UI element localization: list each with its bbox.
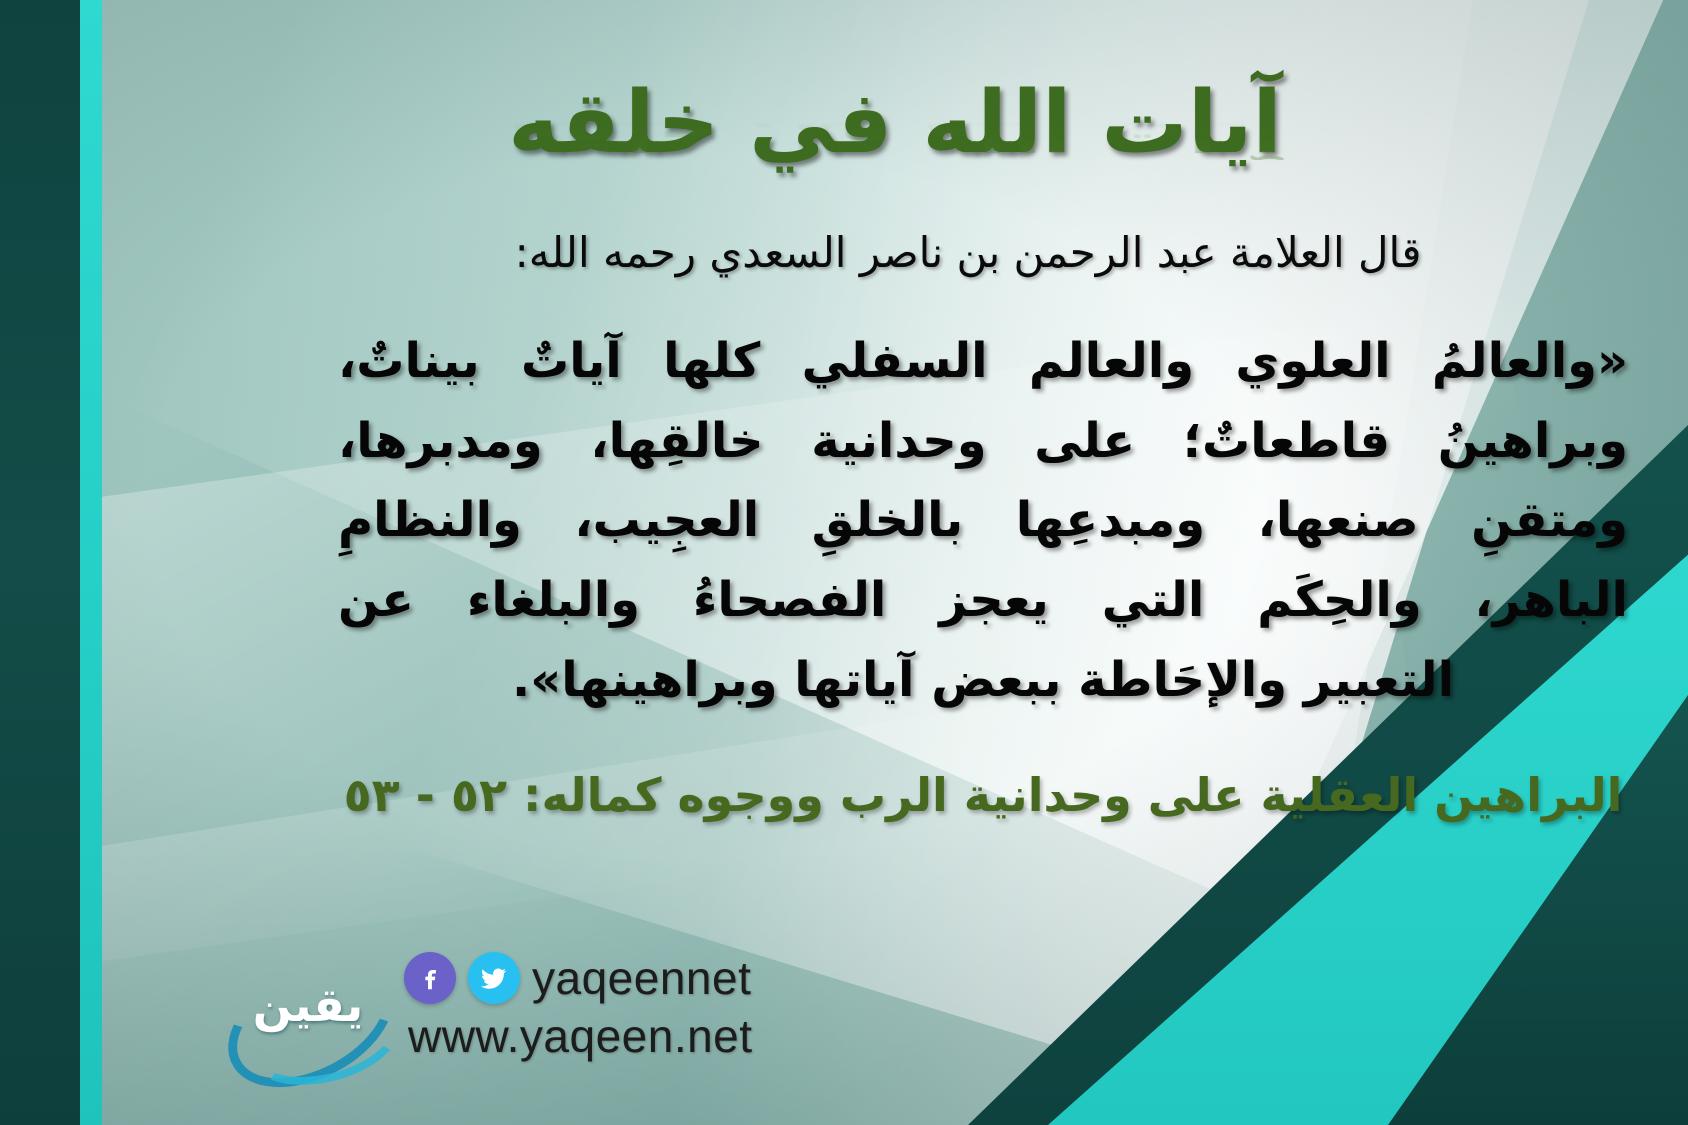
social-block: yaqeennet www.yaqeen.net (404, 951, 753, 1063)
quote-line: «والعالمُ العلوي والعالم السفلي كلها آيا… (338, 322, 1628, 402)
page-title-reflection: آيات الله في خلقه (102, 108, 1688, 160)
poster-content: آيات الله في خلقه آيات الله في خلقه قال … (102, 0, 1688, 1125)
footer-branding: يقين yaqeenn (212, 951, 753, 1063)
attribution-line: قال العلامة عبد الرحمن بن ناصر السعدي رح… (378, 228, 1558, 277)
left-cyan-stripe (80, 0, 102, 1125)
website-row: www.yaqeen.net (404, 1009, 753, 1063)
facebook-icon[interactable] (404, 952, 456, 1004)
background-panel: آيات الله في خلقه آيات الله في خلقه قال … (102, 0, 1688, 1125)
social-handle[interactable]: yaqeennet (532, 951, 751, 1005)
website-url[interactable]: www.yaqeen.net (408, 1009, 753, 1063)
quote-body: «والعالمُ العلوي والعالم السفلي كلها آيا… (338, 322, 1628, 720)
quote-line: ومتقنِ صنعها، ومبدعِها بالخلقِ العجِيب، … (338, 481, 1628, 561)
social-handle-row: yaqeennet (404, 951, 753, 1005)
yaqeen-logo: يقين (212, 952, 382, 1062)
quote-line: وبراهينُ قاطعاتٌ؛ على وحدانية خالقِها، و… (338, 402, 1628, 482)
logo-wordmark: يقين (238, 978, 378, 1032)
poster-canvas: آيات الله في خلقه آيات الله في خلقه قال … (0, 0, 1688, 1125)
quote-line: الباهر، والحِكَم التي يعجز الفصحاءُ والب… (338, 561, 1628, 641)
left-dark-band (0, 0, 80, 1125)
quote-line: التعبير والإحَاطة ببعض آياتها وبراهينها»… (338, 641, 1628, 721)
twitter-icon[interactable] (468, 952, 520, 1004)
source-citation: البراهين العقلية على وحدانية الرب ووجوه … (338, 768, 1628, 822)
